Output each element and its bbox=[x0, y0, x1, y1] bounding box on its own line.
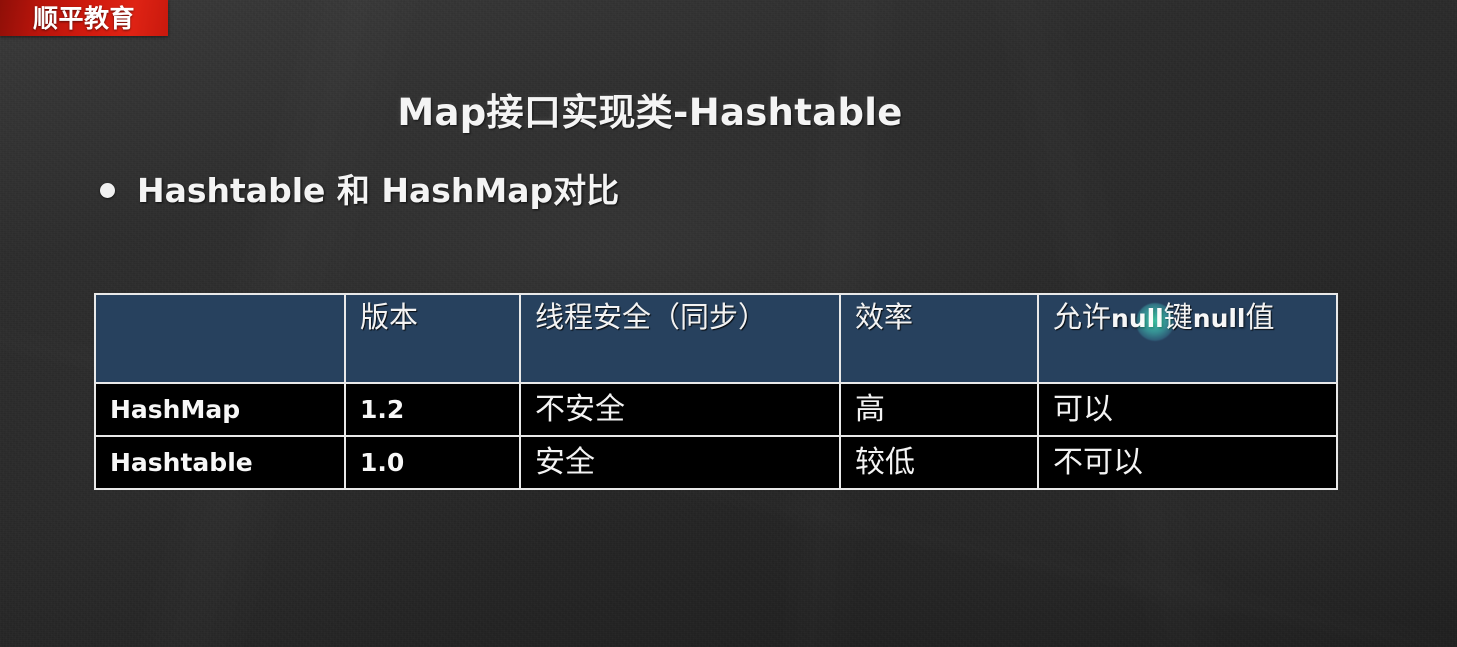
table-header-cell-name bbox=[95, 294, 345, 383]
cell-thread-safety: 不安全 bbox=[520, 383, 840, 436]
null-header-prefix: 允许 bbox=[1053, 300, 1111, 334]
cell-efficiency: 高 bbox=[840, 383, 1038, 436]
bullet-heading-label: Hashtable 和 HashMap对比 bbox=[137, 172, 619, 210]
bullet-heading: Hashtable 和 HashMap对比 bbox=[100, 172, 619, 210]
cell-value-null-support: 不可以 bbox=[1053, 445, 1143, 480]
table-row: Hashtable 1.0 安全 较低 不可以 bbox=[95, 436, 1337, 489]
table-body: HashMap 1.2 不安全 高 可以 Hashtable bbox=[95, 383, 1337, 489]
cell-thread-safety: 安全 bbox=[520, 436, 840, 489]
null-header-middle: 键 bbox=[1164, 300, 1193, 334]
cell-value-name: Hashtable bbox=[110, 448, 253, 477]
null-header-second-latin: null bbox=[1193, 304, 1246, 333]
brand-banner-label: 顺平教育 bbox=[33, 6, 135, 31]
cell-value-name: HashMap bbox=[110, 395, 240, 424]
slide-canvas: 顺平教育 Map接口实现类-Hashtable Hashtable 和 Hash… bbox=[0, 0, 1457, 647]
cell-version: 1.2 bbox=[345, 383, 520, 436]
table-header-cell-version: 版本 bbox=[345, 294, 520, 383]
cell-value-thread-safety: 不安全 bbox=[535, 392, 625, 427]
hashtable-hashmap-comparison-table: 版本 线程安全（同步） 效率 允许null键null值 HashMap bbox=[94, 293, 1338, 490]
cell-name: Hashtable bbox=[95, 436, 345, 489]
cell-null-support: 可以 bbox=[1038, 383, 1337, 436]
table-header-label-null-support: 允许null键null值 bbox=[1053, 314, 1275, 331]
table-header-label-version: 版本 bbox=[360, 300, 418, 334]
slide-title: Map接口实现类-Hashtable bbox=[0, 92, 1300, 135]
cell-value-efficiency: 高 bbox=[855, 392, 885, 427]
table-header-cell-efficiency: 效率 bbox=[840, 294, 1038, 383]
table-header-cell-thread-safety: 线程安全（同步） bbox=[520, 294, 840, 383]
cell-version: 1.0 bbox=[345, 436, 520, 489]
null-header-first-latin: null bbox=[1111, 304, 1164, 333]
cell-value-thread-safety: 安全 bbox=[535, 445, 595, 480]
cell-value-version: 1.0 bbox=[360, 448, 404, 477]
table-header-row: 版本 线程安全（同步） 效率 允许null键null值 bbox=[95, 294, 1337, 383]
cell-null-support: 不可以 bbox=[1038, 436, 1337, 489]
brand-banner: 顺平教育 bbox=[0, 0, 168, 36]
bullet-dot-icon bbox=[100, 183, 115, 198]
cell-efficiency: 较低 bbox=[840, 436, 1038, 489]
cell-value-efficiency: 较低 bbox=[855, 445, 915, 480]
table-header-label-thread-safety: 线程安全（同步） bbox=[535, 300, 767, 334]
null-header-suffix: 值 bbox=[1246, 300, 1275, 334]
table-header-cell-null-support: 允许null键null值 bbox=[1038, 294, 1337, 383]
cell-value-version: 1.2 bbox=[360, 395, 404, 424]
table-header-label-efficiency: 效率 bbox=[855, 300, 913, 334]
cell-value-null-support: 可以 bbox=[1053, 392, 1113, 427]
cell-name: HashMap bbox=[95, 383, 345, 436]
table-header: 版本 线程安全（同步） 效率 允许null键null值 bbox=[95, 294, 1337, 383]
table-row: HashMap 1.2 不安全 高 可以 bbox=[95, 383, 1337, 436]
